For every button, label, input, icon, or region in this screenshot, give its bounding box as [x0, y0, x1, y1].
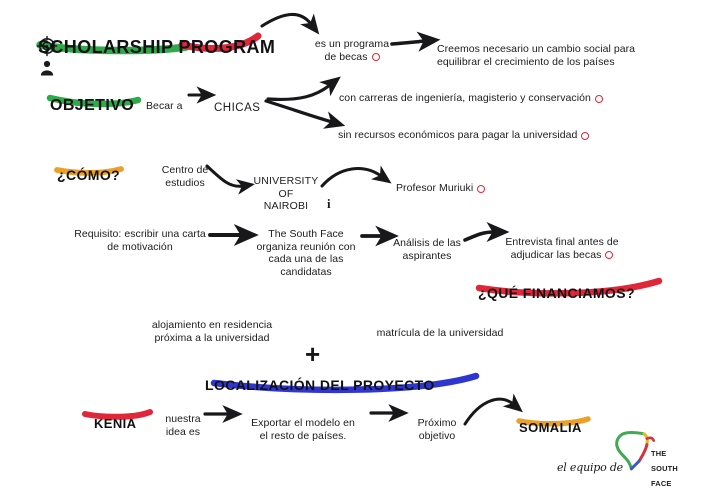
info-marker-text: i	[327, 196, 331, 211]
section-title-localizacion: LOCALIZACIÓN DEL PROYECTO	[205, 360, 435, 393]
logo-wordmark: THE SOUTH FACE	[651, 442, 678, 495]
node-con-carreras: con carreras de ingeniería, magisterio y…	[339, 80, 639, 105]
node-becar-a-text: Becar a	[146, 100, 183, 112]
node-somalia: SOMALIA	[519, 405, 582, 436]
logo-word-line3: FACE	[651, 480, 678, 488]
node-profesor-muriuki: Profesor Muriuki	[396, 170, 506, 195]
red-circle-marker-1	[372, 53, 380, 61]
node-requisito: Requisito: escribir una carta de motivac…	[66, 216, 214, 253]
section-title-como: ¿CÓMO?	[57, 150, 120, 183]
logo-word-line1: THE	[651, 450, 678, 458]
node-requisito-text: Requisito: escribir una carta de motivac…	[74, 228, 206, 252]
node-centro-estudios-text: Centro de estudios	[162, 164, 209, 188]
node-university-nairobi: UNIVERSITY OF NAIROBI	[247, 163, 325, 213]
node-alojamiento-text: alojamiento en residencia próxima a la u…	[152, 319, 272, 343]
node-proximo-objetivo-text: Próximo objetivo	[418, 417, 457, 441]
node-somalia-text: SOMALIA	[519, 420, 582, 435]
node-kenia: KENIA	[94, 401, 136, 432]
node-sin-recursos-text: sin recursos económicos para pagar la un…	[338, 129, 577, 141]
node-nuestra-idea-text: nuestra idea es	[165, 413, 200, 437]
node-nuestra-idea: nuestra idea es	[160, 401, 206, 438]
section-title-objetivo-text: OBJETIVO	[50, 97, 134, 114]
logo-word-line2: SOUTH	[651, 465, 678, 473]
node-chicas: CHICAS	[214, 88, 260, 115]
node-creemos: Creemos necesario un cambio social para …	[437, 31, 697, 68]
section-title-que-financiamos-text: ¿QUÉ FINANCIAMOS?	[478, 285, 635, 301]
node-becar-a: Becar a	[146, 88, 183, 113]
section-title-objetivo: OBJETIVO	[50, 78, 134, 116]
node-matricula: matrícula de la universidad	[360, 315, 520, 340]
node-entrevista-final: Entrevista final antes de adjudicar las …	[497, 224, 627, 261]
page-title-text: SCHOLARSHIP PROGRAM	[38, 37, 275, 57]
node-exportar-modelo: Exportar el modelo en el resto de países…	[240, 405, 366, 442]
node-university-nairobi-text: UNIVERSITY OF NAIROBI	[253, 175, 318, 212]
logo-script-text: el equipo de	[557, 449, 623, 475]
node-entrevista-final-text: Entrevista final antes de adjudicar las …	[505, 236, 618, 260]
red-circle-marker-3	[581, 132, 589, 140]
node-exportar-modelo-text: Exportar el modelo en el resto de países…	[251, 417, 355, 441]
node-analisis-aspirantes-text: Análisis de las aspirantes	[393, 237, 461, 261]
node-con-carreras-text: con carreras de ingeniería, magisterio y…	[339, 92, 591, 104]
node-organiza-reunion-text: The South Face organiza reunión con cada…	[256, 228, 355, 277]
node-proximo-objetivo: Próximo objetivo	[408, 405, 466, 442]
section-title-como-text: ¿CÓMO?	[57, 167, 120, 183]
red-circle-marker-5	[605, 251, 613, 259]
section-title-localizacion-text: LOCALIZACIÓN DEL PROYECTO	[205, 377, 435, 393]
section-title-que-financiamos: ¿QUÉ FINANCIAMOS?	[478, 268, 635, 301]
node-kenia-text: KENIA	[94, 416, 136, 431]
red-circle-marker-2	[595, 95, 603, 103]
info-marker: i	[327, 181, 331, 212]
node-matricula-text: matrícula de la universidad	[377, 327, 504, 339]
slide-canvas: SCHOLARSHIP PROGRAM es un programa de be…	[0, 0, 720, 480]
node-chicas-text: CHICAS	[214, 102, 260, 114]
person-icon	[41, 61, 53, 76]
node-es-un-programa: es un programa de becas	[311, 26, 393, 63]
node-centro-estudios: Centro de estudios	[152, 152, 218, 189]
node-analisis-aspirantes: Análisis de las aspirantes	[385, 225, 469, 262]
red-circle-marker-4	[477, 185, 485, 193]
node-sin-recursos: sin recursos económicos para pagar la un…	[338, 117, 628, 142]
page-title: SCHOLARSHIP PROGRAM	[38, 16, 275, 58]
node-organiza-reunion: The South Face organiza reunión con cada…	[250, 216, 362, 278]
node-creemos-text: Creemos necesario un cambio social para …	[437, 43, 635, 67]
node-profesor-muriuki-text: Profesor Muriuki	[396, 182, 473, 194]
node-alojamiento: alojamiento en residencia próxima a la u…	[132, 307, 292, 344]
